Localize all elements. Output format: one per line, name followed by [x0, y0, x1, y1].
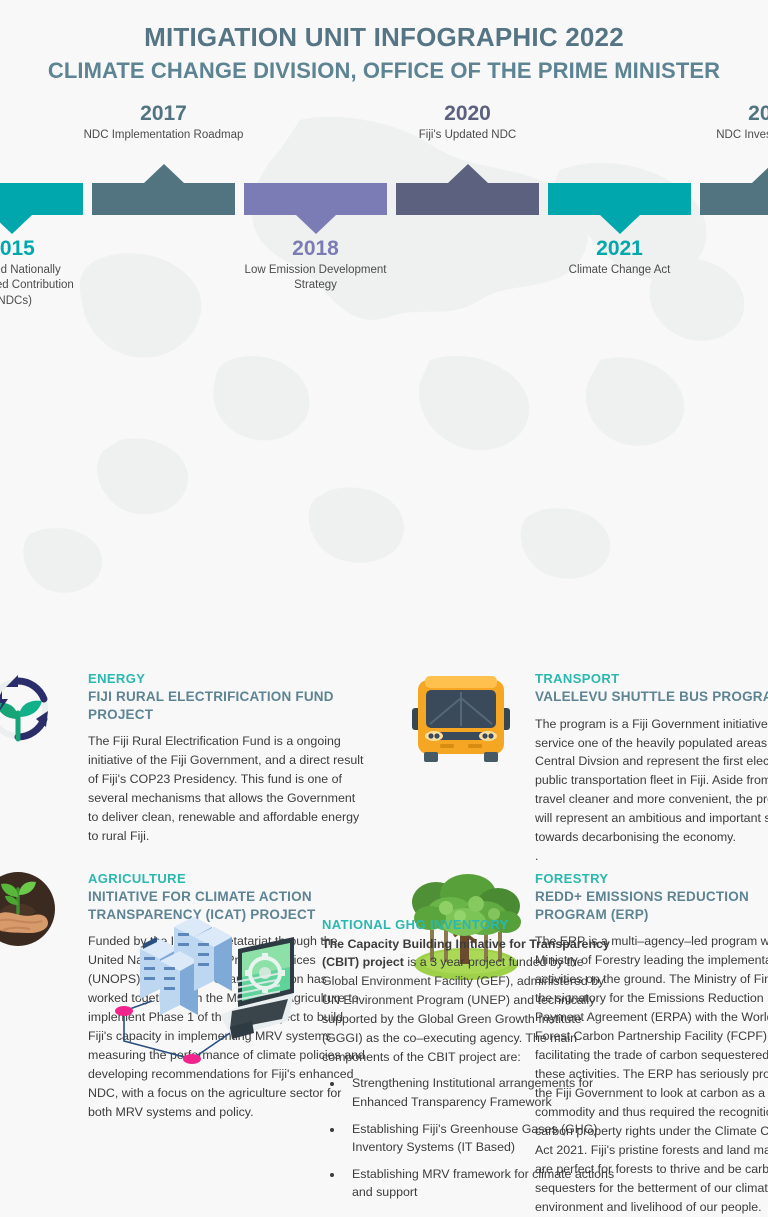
- ghg-description: The Capacity Building Initiative for Tra…: [322, 935, 622, 1068]
- page-title: MITIGATION UNIT INFOGRAPHIC 2022: [0, 22, 768, 53]
- sector-name-transport: VALELEVU SHUTTLE BUS PROGRAM: [535, 688, 768, 706]
- energy-body: ENERGY FIJI RURAL ELECTRIFICATION FUND P…: [88, 670, 368, 846]
- timeline: 2015Intended Nationally Determined Contr…: [0, 102, 768, 307]
- seedling-hands-icon: [0, 867, 58, 957]
- server-laptop-network-icon: [112, 915, 312, 1070]
- timeline-caption: Intended Nationally Determined Contribut…: [0, 263, 127, 309]
- timeline-bar: [0, 183, 83, 215]
- timeline-label: 2021Climate Change Act: [505, 237, 735, 278]
- timeline-segment[interactable]: [244, 183, 387, 215]
- timeline-bar: [244, 183, 387, 215]
- timeline-segment[interactable]: [92, 183, 235, 215]
- timeline-caption: NDC Implementation Roadmap: [49, 128, 279, 143]
- timeline-caption: Low Emission Development Strategy: [201, 263, 431, 293]
- timeline-bars: [0, 183, 768, 215]
- sector-text-energy: The Fiji Rural Electrification Fund is a…: [88, 732, 368, 846]
- timeline-segment[interactable]: [548, 183, 691, 215]
- sector-category-transport: TRANSPORT: [535, 670, 768, 688]
- timeline-caption: Climate Change Act: [505, 263, 735, 278]
- ghg-body-text: is a 3 year project funded by the Global…: [322, 955, 604, 1064]
- timeline-segment[interactable]: [0, 183, 83, 215]
- ghg-title: NATIONAL GHG INVENTORY: [322, 915, 622, 935]
- bus-icon: [406, 672, 516, 772]
- timeline-caption: NDC Investment Plan: [657, 128, 768, 143]
- timeline-caption: Fiji's Updated NDC: [353, 128, 583, 143]
- timeline-label: 2022NDC Investment Plan: [657, 102, 768, 143]
- list-item: Establishing MRV framework for climate a…: [344, 1165, 622, 1202]
- sector-category-energy: ENERGY: [88, 670, 368, 688]
- timeline-year: 2021: [505, 237, 735, 260]
- timeline-pointer: [752, 164, 768, 183]
- timeline-label: 2018Low Emission Development Strategy: [201, 237, 431, 293]
- timeline-pointer: [296, 215, 336, 234]
- timeline-label: 2017NDC Implementation Roadmap: [49, 102, 279, 143]
- timeline-bar: [396, 183, 539, 215]
- sector-name-energy: FIJI RURAL ELECTRIFICATION FUND PROJECT: [88, 688, 368, 724]
- transport-body: TRANSPORT VALELEVU SHUTTLE BUS PROGRAM T…: [535, 670, 768, 866]
- timeline-year: 2015: [0, 237, 127, 260]
- timeline-pointer: [144, 164, 184, 183]
- ghg-components-list: Strengthening Institutional arrangements…: [322, 1074, 622, 1202]
- timeline-label: 2020Fiji's Updated NDC: [353, 102, 583, 143]
- page-subtitle: CLIMATE CHANGE DIVISION, OFFICE OF THE P…: [0, 57, 768, 85]
- ghg-body: NATIONAL GHG INVENTORY The Capacity Buil…: [322, 915, 622, 1210]
- list-item: Strengthening Institutional arrangements…: [344, 1074, 622, 1111]
- list-item: Establishing Fiji's Greenhouse Gases (GH…: [344, 1120, 622, 1157]
- timeline-segment[interactable]: [396, 183, 539, 215]
- timeline-year: 2017: [49, 102, 279, 125]
- timeline-year: 2020: [353, 102, 583, 125]
- sector-category-forestry: FORESTRY: [535, 870, 768, 888]
- timeline-pointer: [0, 215, 32, 234]
- timeline-bar: [548, 183, 691, 215]
- timeline-year: 2022: [657, 102, 768, 125]
- timeline-label: 2015Intended Nationally Determined Contr…: [0, 237, 127, 309]
- timeline-year: 2018: [201, 237, 431, 260]
- sector-text-transport: The program is a Fiji Government initiat…: [535, 715, 768, 867]
- sector-category-agriculture: AGRICULTURE: [88, 870, 368, 888]
- timeline-bar: [92, 183, 235, 215]
- timeline-pointer: [448, 164, 488, 183]
- timeline-segment[interactable]: [700, 183, 768, 215]
- page-header: MITIGATION UNIT INFOGRAPHIC 2022 CLIMATE…: [0, 0, 768, 84]
- timeline-bar: [700, 183, 768, 215]
- energy-renewable-icon: [0, 667, 58, 757]
- timeline-pointer: [600, 215, 640, 234]
